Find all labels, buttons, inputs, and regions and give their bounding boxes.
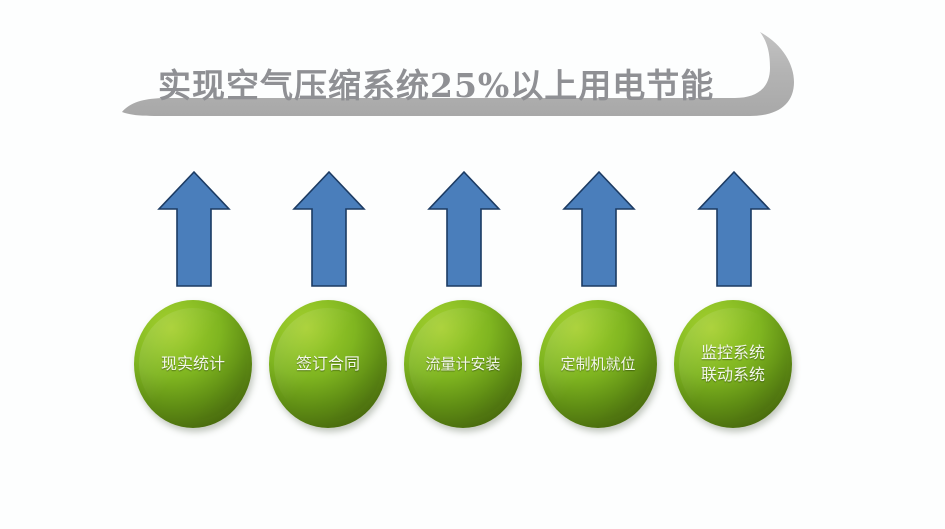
node-label-line1: 现实统计 (161, 353, 225, 375)
node-5[interactable]: 监控系统 联动系统 (674, 300, 792, 428)
arrow-up-icon (157, 168, 231, 290)
node-3[interactable]: 流量计安装 (404, 300, 522, 428)
arrow-up-icon (292, 168, 366, 290)
node-label-line2: 联动系统 (701, 364, 765, 386)
page-title: 实现空气压缩系统25%以上用电节能 (158, 58, 778, 114)
node-label-line1: 签订合同 (296, 353, 360, 375)
node-label-line1: 监控系统 (701, 342, 765, 364)
node-1[interactable]: 现实统计 (134, 300, 252, 428)
node-4[interactable]: 定制机就位 (539, 300, 657, 428)
node-label: 流量计安装 (404, 300, 522, 428)
node-label: 签订合同 (269, 300, 387, 428)
arrow-up-icon (427, 168, 501, 290)
node-label: 监控系统 联动系统 (674, 300, 792, 428)
arrow-up-5 (697, 168, 771, 290)
arrow-up-3 (427, 168, 501, 290)
arrow-up-icon (697, 168, 771, 290)
title-banner: 实现空气压缩系统25%以上用电节能 (110, 30, 810, 150)
arrow-up-icon (562, 168, 636, 290)
arrow-up-1 (157, 168, 231, 290)
arrow-up-4 (562, 168, 636, 290)
node-label: 现实统计 (134, 300, 252, 428)
slide-canvas: 实现空气压缩系统25%以上用电节能 现实统计 签订合同 (0, 0, 945, 529)
node-2[interactable]: 签订合同 (269, 300, 387, 428)
arrow-up-2 (292, 168, 366, 290)
node-label-line1: 流量计安装 (425, 353, 500, 375)
node-label: 定制机就位 (539, 300, 657, 428)
node-label-line1: 定制机就位 (560, 353, 635, 375)
